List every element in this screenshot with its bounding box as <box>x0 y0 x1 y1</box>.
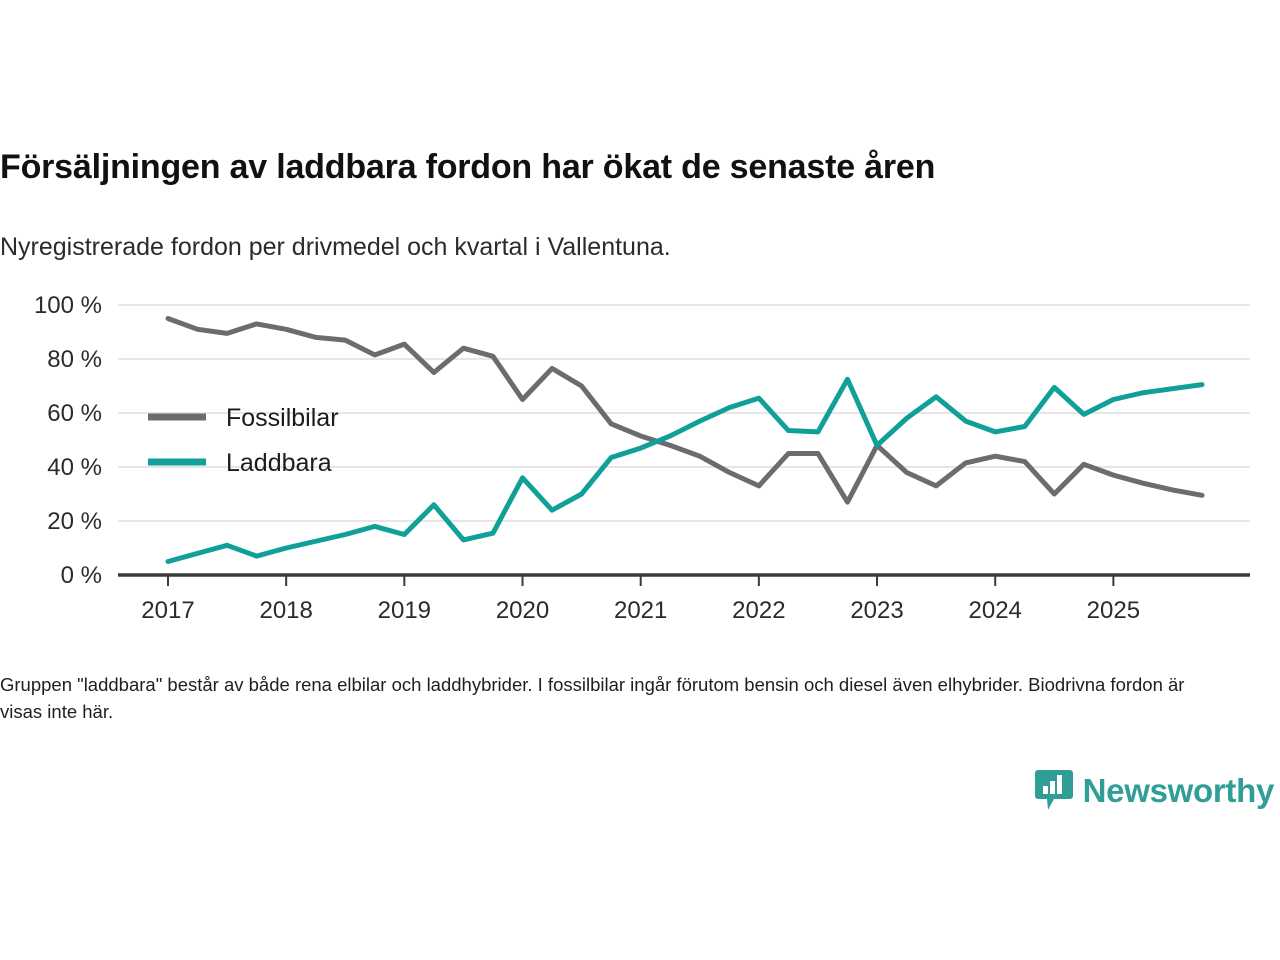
legend-label: Laddbara <box>226 449 332 477</box>
chart-page: Försäljningen av laddbara fordon har öka… <box>0 0 1280 960</box>
x-axis-tick-label: 2017 <box>141 597 194 620</box>
x-axis-tick-label: 2025 <box>1087 597 1140 620</box>
brand-name: Newsworthy <box>1083 774 1274 807</box>
y-axis-tick-label: 40 % <box>47 454 102 481</box>
legend-label: Fossilbilar <box>226 404 339 432</box>
x-axis-tick-labels: 201720182019202020212022202320242025 <box>141 597 1140 620</box>
y-axis-tick-label: 100 % <box>34 292 102 319</box>
newsworthy-logo[interactable]: Newsworthy <box>1035 768 1274 812</box>
x-axis-tick-label: 2023 <box>850 597 903 620</box>
y-axis-tick-label: 0 % <box>61 562 102 589</box>
chart-subtitle: Nyregistrerade fordon per drivmedel och … <box>0 232 1270 262</box>
chart-container: 0 %20 %40 %60 %80 %100 % 201720182019202… <box>0 285 1280 620</box>
x-axis-tick-label: 2019 <box>378 597 431 620</box>
y-axis-tick-labels: 0 %20 %40 %60 %80 %100 % <box>34 292 102 589</box>
series-lines <box>168 319 1202 562</box>
y-axis-tick-label: 60 % <box>47 400 102 427</box>
x-axis-tick-label: 2020 <box>496 597 549 620</box>
y-axis-tick-label: 20 % <box>47 508 102 535</box>
page-title: Försäljningen av laddbara fordon har öka… <box>0 148 1270 187</box>
x-axis-tick-label: 2024 <box>969 597 1022 620</box>
x-axis-tick-label: 2022 <box>732 597 785 620</box>
x-axis-tick-label: 2021 <box>614 597 667 620</box>
y-axis-tick-label: 80 % <box>47 346 102 373</box>
chart-footnote: Gruppen "laddbara" består av både rena e… <box>0 672 1230 726</box>
x-axis-tick-label: 2018 <box>259 597 312 620</box>
bar-chart-speech-bubble-icon <box>1035 768 1073 812</box>
line-chart: 0 %20 %40 %60 %80 %100 % 201720182019202… <box>0 285 1280 620</box>
